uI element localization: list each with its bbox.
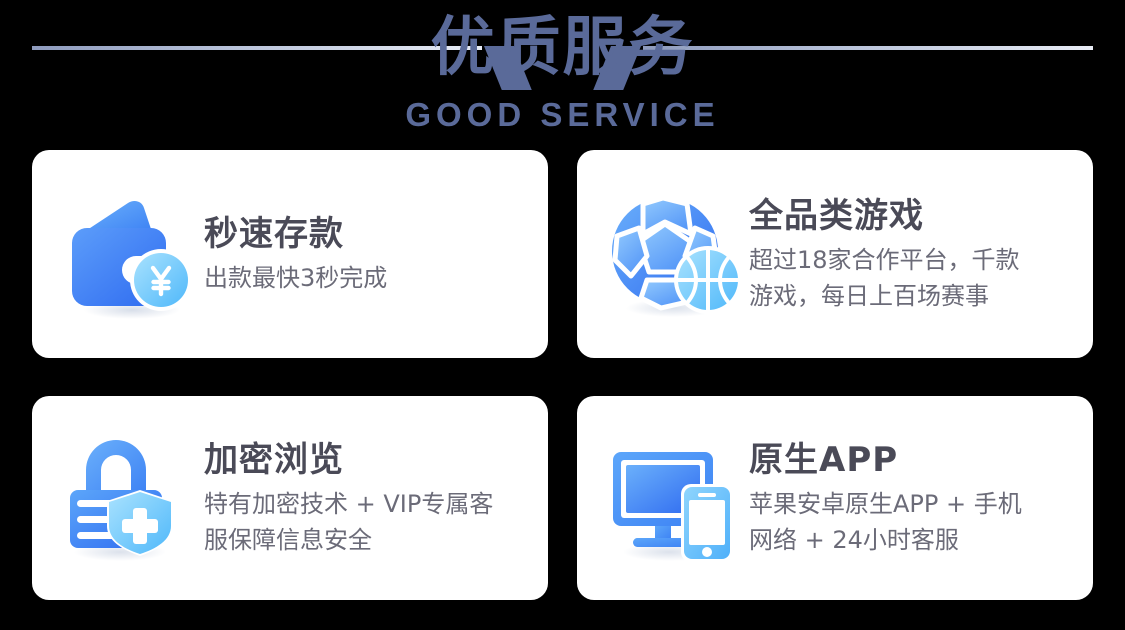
- feature-card-grid: 秒速存款 出款最快3秒完成: [32, 150, 1093, 600]
- feature-card-games[interactable]: 全品类游戏 超过18家合作平台，千款 游戏，每日上百场赛事: [577, 150, 1093, 358]
- card-title: 全品类游戏: [749, 194, 1079, 238]
- card-title: 秒速存款: [204, 212, 534, 256]
- card-desc-line: 特有加密技术 + VIP专属客: [204, 486, 534, 522]
- feature-card-encryption[interactable]: 加密浏览 特有加密技术 + VIP专属客 服保障信息安全: [32, 396, 548, 600]
- card-text-deposit: 秒速存款 出款最快3秒完成: [204, 212, 548, 296]
- card-desc-line: 游戏，每日上百场赛事: [749, 278, 1079, 314]
- card-text-games: 全品类游戏 超过18家合作平台，千款 游戏，每日上百场赛事: [749, 194, 1093, 314]
- monitor-phone-icon: [603, 428, 749, 568]
- card-desc-line: 服保障信息安全: [204, 522, 534, 558]
- card-text-native-app: 原生APP 苹果安卓原生APP + 手机 网络 + 24小时客服: [749, 438, 1093, 558]
- feature-card-deposit[interactable]: 秒速存款 出款最快3秒完成: [32, 150, 548, 358]
- card-desc-line: 超过18家合作平台，千款: [749, 242, 1079, 278]
- card-text-encryption: 加密浏览 特有加密技术 + VIP专属客 服保障信息安全: [204, 438, 548, 558]
- card-desc-line: 出款最快3秒完成: [204, 260, 534, 296]
- lock-shield-icon: [58, 428, 204, 568]
- promo-banner: 优质服务 GOOD SERVICE: [0, 0, 1125, 630]
- card-title: 加密浏览: [204, 438, 534, 482]
- wallet-yen-icon: [58, 184, 204, 324]
- card-title: 原生APP: [749, 438, 1079, 482]
- page-title-en: GOOD SERVICE: [0, 96, 1125, 134]
- card-desc-line: 网络 + 24小时客服: [749, 522, 1079, 558]
- banner-header: 优质服务 GOOD SERVICE: [0, 0, 1125, 148]
- card-desc-line: 苹果安卓原生APP + 手机: [749, 486, 1079, 522]
- soccer-basketball-icon: [603, 184, 749, 324]
- page-title-cn: 优质服务: [0, 8, 1125, 88]
- feature-card-native-app[interactable]: 原生APP 苹果安卓原生APP + 手机 网络 + 24小时客服: [577, 396, 1093, 600]
